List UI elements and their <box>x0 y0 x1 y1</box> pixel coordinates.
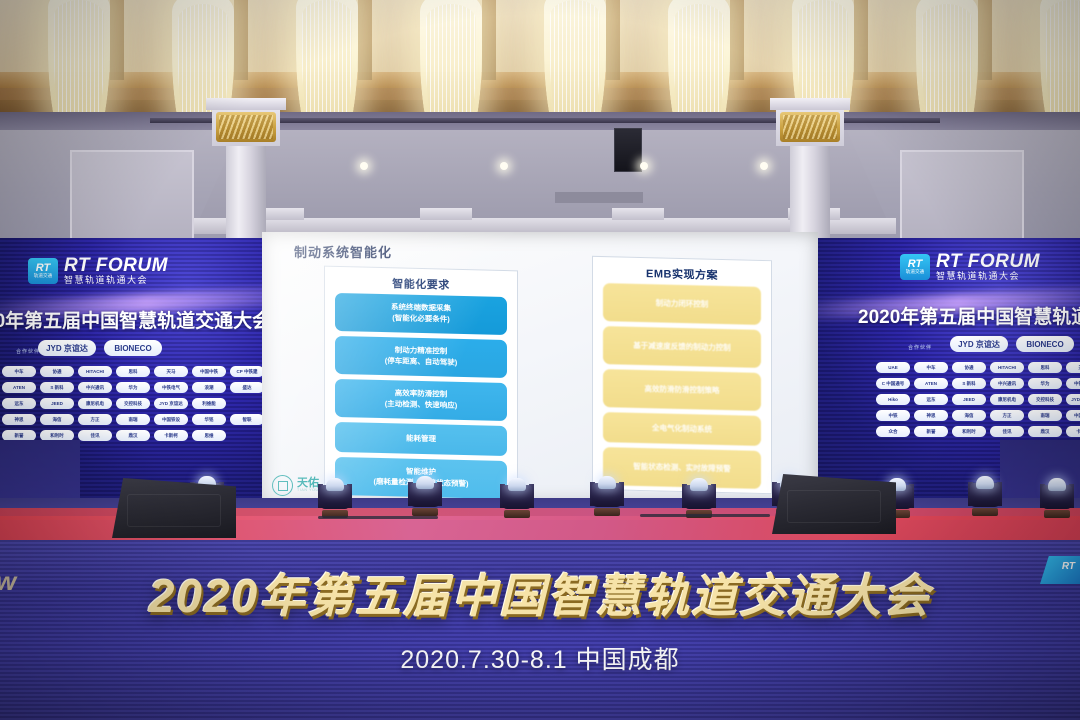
sponsor-logo: 南瑞 <box>116 414 150 425</box>
emb-chip: 基于减速度反馈的制动力控制 <box>603 326 761 368</box>
sponsor-logo: 方正 <box>78 414 112 425</box>
ceiling-beam <box>110 0 124 80</box>
light-base <box>412 508 438 516</box>
sponsor-logo: JYD 京谊达 <box>154 398 188 409</box>
rt-badge-icon: RT 轨道交通 <box>900 254 930 280</box>
cornice-block <box>420 208 472 220</box>
ceiling-beam <box>234 0 248 80</box>
stage-cable <box>640 514 770 517</box>
sponsor-logo: 天马 <box>1066 362 1080 373</box>
light-base <box>504 510 530 518</box>
rt-forum-title-en: RT FORUM <box>936 252 1040 272</box>
slide-title: 制动系统智能化 <box>294 242 392 261</box>
sponsor-logo: 华为 <box>1028 378 1062 389</box>
moving-head-light <box>590 476 624 516</box>
chip-line-1: 能耗管理 <box>406 433 436 445</box>
sponsor-logo: 和利时 <box>952 426 986 437</box>
sponsor-logo: 思科 <box>1028 362 1062 373</box>
chip-line-1: 智能状态检测、实时故障预警 <box>633 461 731 474</box>
sponsor-logo: 天马 <box>154 366 188 377</box>
sponsor-logo: 中车 <box>2 366 36 377</box>
sponsor-logo: 康尼机电 <box>78 398 112 409</box>
sponsor-logo: 佳讯 <box>990 426 1024 437</box>
sponsor-logo: 中国中铁 <box>192 366 226 377</box>
capital-gold-left <box>216 112 276 142</box>
sponsor-logo: 中车 <box>914 362 948 373</box>
sponsor-logo: 鼎汉 <box>116 430 150 441</box>
chip-line-1: 基于减速度反馈的制动力控制 <box>633 340 731 353</box>
sponsor-logo: UAE <box>876 362 910 373</box>
sponsor-logo: 协通 <box>40 366 74 377</box>
sponsor-logo: 中铁电气 <box>154 382 188 393</box>
moving-head-light <box>318 478 352 518</box>
sponsor-logo: JEED <box>952 394 986 405</box>
ceiling-beam <box>606 0 620 80</box>
sponsor-logo: C 中国通号 <box>876 378 910 389</box>
sponsor-logo: S 新科 <box>40 382 74 393</box>
sponsor-logo: CP 中铁建 <box>230 366 264 377</box>
event-main-title: 2020年第五届中国智慧轨道交通大会 <box>0 560 1080 626</box>
sponsor-logo: 众合 <box>876 426 910 437</box>
sponsor-logo: 卡斯柯 <box>154 430 188 441</box>
led-headline-right: 2020年第五届中国智慧轨道交通大 <box>858 302 1080 329</box>
sponsor-logo: 利维能 <box>192 398 226 409</box>
sponsor-logo: 康尼机电 <box>990 394 1024 405</box>
rt-forum-logo-left: RT 轨道交通 RT FORUM 智慧轨道轨通大会 <box>28 256 168 285</box>
light-head <box>1048 478 1066 491</box>
sponsor-label-left: 合作伙伴 <box>16 348 40 355</box>
panel-requirements: 智能化要求 系统终端数据采集(智能化必要条件)制动力精准控制(停车距离、自动驾驶… <box>324 266 518 495</box>
requirement-chip: 系统终端数据采集(智能化必要条件) <box>335 293 507 335</box>
light-head <box>326 478 344 491</box>
sponsor-logo-primary: JYD 京谊达 <box>38 340 96 356</box>
sponsor-logo: 方正 <box>990 410 1024 421</box>
led-headline-left: 20年第五届中国智慧轨道交通大会 <box>0 306 268 333</box>
rt-forum-logo-right: RT 轨道交通 RT FORUM 智慧轨道轨通大会 <box>900 252 1040 281</box>
moving-head-light <box>500 478 534 518</box>
chip-line-2: (主动检测、快速响应) <box>385 399 458 412</box>
requirement-chip: 高效率防滑控制(主动检测、快速响应) <box>335 379 507 421</box>
sponsor-logo: 智联 <box>230 414 264 425</box>
emb-chip: 高效防滑防滑控制策略 <box>603 369 761 411</box>
sponsor-logo: 新誉 <box>914 426 948 437</box>
sponsor-logo: 华铭 <box>192 414 226 425</box>
sponsor-logo: S 新科 <box>952 378 986 389</box>
corner-badge-label: RT <box>1062 561 1075 572</box>
light-head <box>976 476 994 489</box>
column-abacus-right <box>770 98 850 110</box>
monitor-speaker-left <box>112 478 236 538</box>
downlight <box>640 162 648 170</box>
sponsor-logo-primary: BIONECO <box>104 340 162 356</box>
emb-chip: 全电气化制动系统 <box>603 412 761 446</box>
tianyou-sub: TIAN YOU <box>297 489 319 493</box>
ceiling-beam <box>978 0 992 80</box>
light-head <box>598 476 616 489</box>
sponsor-logo: Hiko <box>876 394 910 405</box>
rt-badge-cn: 轨道交通 <box>906 270 924 275</box>
sponsor-logo: 中铁电气 <box>1066 378 1080 389</box>
sponsor-logo: 海信 <box>952 410 986 421</box>
sponsor-logo: JEED <box>40 398 74 409</box>
light-head <box>416 476 434 489</box>
rt-badge-cn: 轨道交通 <box>34 274 52 279</box>
ceiling-beam <box>730 0 744 80</box>
light-head <box>508 478 526 491</box>
ceiling-beam <box>358 0 372 80</box>
sponsor-logo: 神思 <box>914 410 948 421</box>
downlight <box>360 162 368 170</box>
sponsor-logo-primary: BIONECO <box>1016 336 1074 352</box>
sponsor-label-right: 合作伙伴 <box>908 344 932 351</box>
sponsor-logo: 交控科技 <box>1028 394 1062 405</box>
light-base <box>594 508 620 516</box>
sponsor-logo: 中国铁设 <box>154 414 188 425</box>
chip-line-1: 制动力闭环控制 <box>656 298 709 310</box>
sponsor-logo: 南瑞 <box>1028 410 1062 421</box>
light-base <box>1044 510 1070 518</box>
sponsor-logo: 远东 <box>914 394 948 405</box>
chip-line-1: 全电气化制动系统 <box>652 423 712 435</box>
moving-head-light <box>968 476 1002 516</box>
requirement-chip: 能耗管理 <box>335 422 507 456</box>
ceiling-beam <box>854 0 868 80</box>
sponsor-logo: 中铁 <box>876 410 910 421</box>
rt-forum-title-cn: 智慧轨道轨通大会 <box>64 276 168 285</box>
rt-forum-title-cn: 智慧轨道轨通大会 <box>936 272 1040 281</box>
sponsor-logo: 远东 <box>2 398 36 409</box>
sponsor-logo: HITACHI <box>78 366 112 377</box>
sponsor-logo: ATEN <box>914 378 948 389</box>
rt-badge-icon: RT 轨道交通 <box>28 258 58 284</box>
sponsor-logo: 中国铁设 <box>1066 410 1080 421</box>
column-abacus-left <box>206 98 286 110</box>
sponsor-logo: 神思 <box>2 414 36 425</box>
rt-badge-en: RT <box>36 263 50 274</box>
chip-line-2: (智能化必要条件) <box>392 313 450 325</box>
downlight <box>500 162 508 170</box>
requirement-chip: 制动力精准控制(停车距离、自动驾驶) <box>335 336 507 378</box>
capital-gold-right <box>780 112 840 142</box>
column-capital-left <box>212 106 280 146</box>
tianyou-watermark: 天佑 TIAN YOU <box>272 475 319 496</box>
event-sub-title: 2020.7.30-8.1 中国成都 <box>0 640 1080 676</box>
panel-requirements-heading: 智能化要求 <box>325 274 517 295</box>
sponsor-logo: HITACHI <box>990 362 1024 373</box>
moving-head-light <box>682 478 716 518</box>
panel-emb-heading: EMB实现方案 <box>593 264 771 284</box>
sponsor-logo: ATEN <box>2 382 36 393</box>
sponsor-logo: 中兴通讯 <box>78 382 112 393</box>
ceiling-beam <box>482 0 496 80</box>
sponsor-logo: JYD 京谊达 <box>1066 394 1080 405</box>
emb-chip: 制动力闭环控制 <box>603 283 761 325</box>
sponsor-logo: 卡斯柯 <box>1066 426 1080 437</box>
light-head <box>690 478 708 491</box>
sponsor-logo: 思维 <box>192 430 226 441</box>
moving-head-light <box>408 476 442 516</box>
chip-line-1: 高效防滑防滑控制策略 <box>645 384 720 397</box>
sponsor-logo-primary: JYD 京谊达 <box>950 336 1008 352</box>
column-capital-right <box>776 106 844 146</box>
moving-head-light <box>1040 478 1074 518</box>
wall-vent <box>555 192 643 203</box>
downlight <box>760 162 768 170</box>
stage-cable <box>318 516 438 519</box>
rt-forum-title-en: RT FORUM <box>64 256 168 276</box>
sponsor-logo: 海信 <box>40 414 74 425</box>
light-base <box>972 508 998 516</box>
sponsor-logo: 华为 <box>116 382 150 393</box>
sponsor-logo: 中兴通讯 <box>990 378 1024 389</box>
projection-screen: 制动系统智能化 智能化要求 系统终端数据采集(智能化必要条件)制动力精准控制(停… <box>262 232 818 504</box>
sponsor-logo: 思科 <box>116 366 150 377</box>
sponsor-logo: 佳讯 <box>78 430 112 441</box>
sponsor-logo: 浪潮 <box>192 382 226 393</box>
monitor-speaker-right <box>772 474 896 534</box>
chip-line-2: (停车距离、自动驾驶) <box>385 356 458 369</box>
sponsor-logo: 鼎汉 <box>1028 426 1062 437</box>
sponsor-logo: 盛达 <box>230 382 264 393</box>
panel-emb: EMB实现方案 制动力闭环控制基于减速度反馈的制动力控制高效防滑防滑控制策略全电… <box>592 256 772 494</box>
stage-photo: RT 轨道交通 RT FORUM 智慧轨道轨通大会 20年第五届中国智慧轨道交通… <box>0 0 1080 720</box>
wall-speaker <box>614 128 642 172</box>
sponsor-logo: 交控科技 <box>116 398 150 409</box>
cornice-block <box>612 208 664 220</box>
sponsor-logo: 协通 <box>952 362 986 373</box>
rt-badge-en: RT <box>908 259 922 270</box>
tianyou-logo-icon <box>272 475 293 496</box>
